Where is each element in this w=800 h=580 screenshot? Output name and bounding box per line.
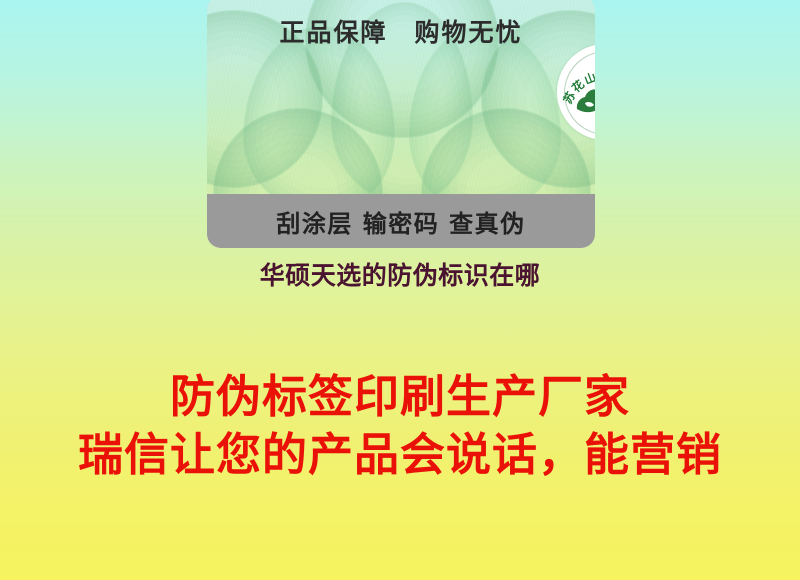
scratch-instruction-text: 刮涂层 输密码 查真伪 xyxy=(276,204,525,239)
page-root: 正品保障 购物无忧 苏花山楼农贸集 R xyxy=(0,0,800,580)
promo-headline-line-2: 瑞信让您的产品会说话，能营销 xyxy=(0,426,800,484)
brand-logo: 苏花山楼农贸集 R xyxy=(555,42,595,142)
card-caption: 华硕天选的防伪标识在哪 xyxy=(0,256,800,292)
guilloche-petal-left xyxy=(243,26,395,214)
anti-counterfeit-card: 正品保障 购物无忧 苏花山楼农贸集 R xyxy=(207,0,595,248)
promo-headline: 防伪标签印刷生产厂家 瑞信让您的产品会说话，能营销 xyxy=(0,368,800,484)
guilloche-petal-right xyxy=(409,26,561,214)
promo-headline-line-1: 防伪标签印刷生产厂家 xyxy=(0,368,800,426)
card-assurance-text: 正品保障 购物无忧 xyxy=(207,13,595,49)
scratch-instruction-band: 刮涂层 输密码 查真伪 xyxy=(207,194,595,248)
mountain-silhouette-icon xyxy=(573,75,595,117)
